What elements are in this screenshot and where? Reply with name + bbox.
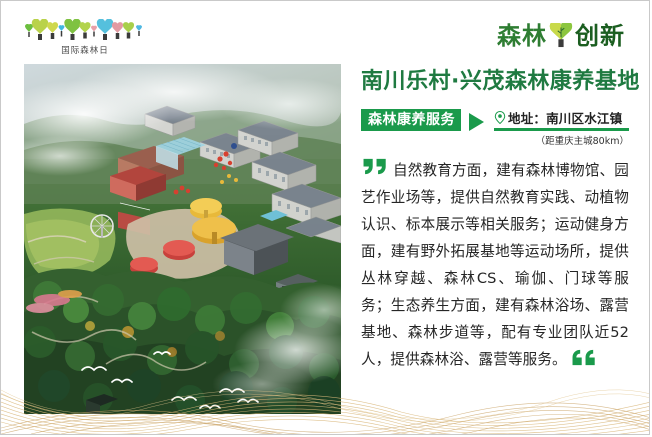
triangle-right-icon — [469, 113, 484, 131]
quote-close-icon — [571, 348, 597, 367]
address-underline — [494, 128, 629, 131]
brand-logo: 森林 创新 — [497, 21, 625, 51]
international-forest-day-logo: 国际森林日 — [25, 19, 145, 56]
quote-open-icon — [362, 157, 388, 176]
poster-page: 国际森林日 森林 创新 — [0, 0, 650, 435]
quote-block: 自然教育方面，建有森林博物馆、园艺作业场等，提供自然教育实践、动植物认识、标本展… — [361, 157, 629, 373]
service-badge: 森林康养服务 — [361, 109, 461, 131]
address-row: 森林康养服务 地址：南川区水江镇 （距重庆主城80km） — [361, 109, 629, 145]
aerial-resort-photo — [24, 64, 341, 414]
address-block: 地址：南川区水江镇 （距重庆主城80km） — [494, 108, 629, 147]
heart-tree-icon — [548, 23, 574, 49]
brand-text-right: 创新 — [575, 24, 625, 48]
location-pin-icon — [494, 111, 506, 124]
address-line: 地址：南川区水江镇 — [494, 108, 629, 127]
quote-body: 自然教育方面，建有森林博物馆、园艺作业场等，提供自然教育实践、动植物认识、标本展… — [361, 162, 629, 368]
quote-text: 自然教育方面，建有森林博物馆、园艺作业场等，提供自然教育实践、动植物认识、标本展… — [361, 157, 629, 373]
brand-text-left: 森林 — [497, 24, 547, 48]
page-title: 南川乐村·兴茂森林康养基地 — [361, 69, 629, 95]
address-text: 地址：南川区水江镇 — [508, 108, 622, 127]
content-column: 南川乐村·兴茂森林康养基地 森林康养服务 地址：南川区水江镇 （距重庆主城80k… — [361, 69, 629, 373]
logo-caption: 国际森林日 — [25, 44, 145, 56]
address-note: （距重庆主城80km） — [494, 133, 629, 147]
heart-trees-row-icon — [25, 19, 145, 43]
